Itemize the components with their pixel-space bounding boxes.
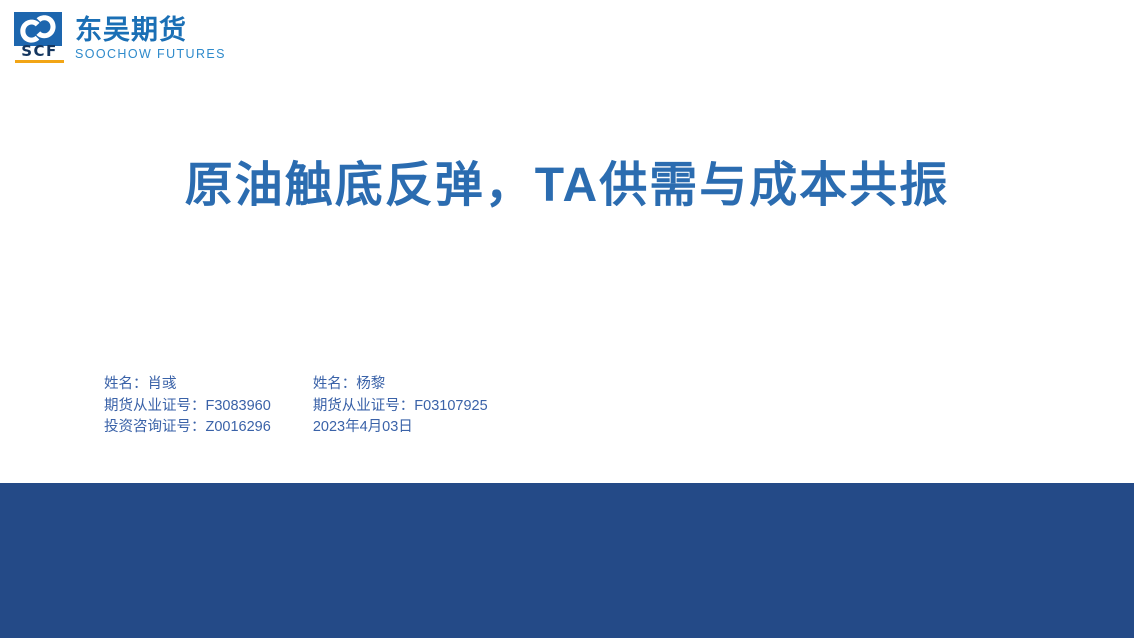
brand-logo: SCF 东吴期货 SOOCHOW FUTURES (14, 12, 226, 68)
brand-name-cn: 东吴期货 (75, 14, 226, 46)
author-info: 姓名：肖彧 期货从业证号：F3083960 投资咨询证号：Z0016296 姓名… (104, 374, 537, 439)
page-title: 原油触底反弹，TA供需与成本共振 (0, 157, 1134, 215)
bottom-navy-band (0, 483, 1134, 638)
brand-name-block: 东吴期货 SOOCHOW FUTURES (75, 12, 226, 62)
author-left-advisory-license: 投资咨询证号：Z0016296 (104, 417, 271, 439)
title-slide: SCF 东吴期货 SOOCHOW FUTURES 原油触底反弹，TA供需与成本共… (0, 0, 1134, 638)
author-left-futures-license: 期货从业证号：F3083960 (104, 396, 271, 418)
scf-abbr-block: SCF (15, 44, 64, 63)
scf-accent-bar (15, 60, 64, 63)
scf-linked-s-mark-icon (14, 12, 62, 46)
author-right-name: 姓名：杨黎 (313, 374, 537, 396)
scf-logo-mark: SCF (14, 12, 66, 68)
report-date: 2023年4月03日 (313, 417, 537, 439)
author-column-left: 姓名：肖彧 期货从业证号：F3083960 投资咨询证号：Z0016296 (104, 374, 271, 439)
brand-name-en: SOOCHOW FUTURES (75, 46, 226, 62)
author-column-right: 姓名：杨黎 期货从业证号：F03107925 2023年4月03日 (313, 374, 537, 439)
author-left-name: 姓名：肖彧 (104, 374, 271, 396)
city-skyline-reflection (0, 483, 1134, 638)
scf-abbr-text: SCF (15, 44, 64, 59)
author-right-futures-license: 期货从业证号：F03107925 (313, 396, 537, 418)
